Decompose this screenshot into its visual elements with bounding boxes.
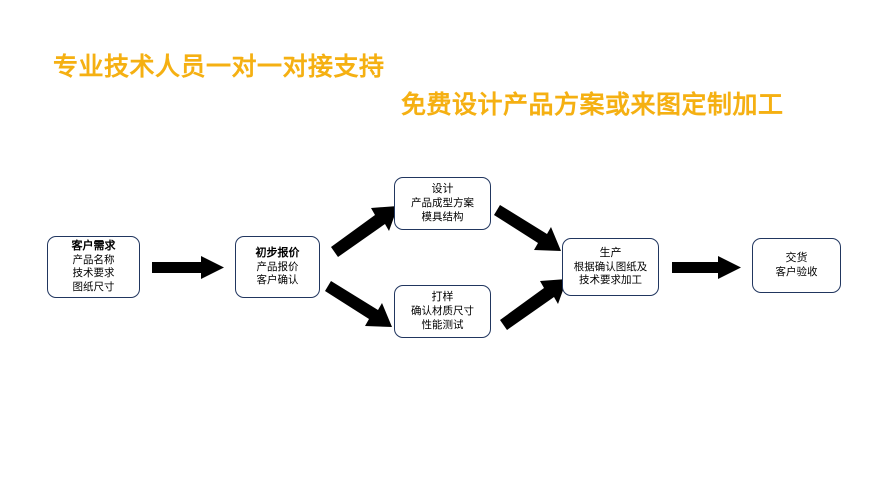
arrow-design-to-production <box>494 205 561 251</box>
flow-node-quote-title: 初步报价 <box>256 246 300 261</box>
flow-node-design-title: 设计 <box>432 182 454 197</box>
flow-node-demand[interactable]: 客户需求 产品名称 技术要求 图纸尺寸 <box>47 236 140 298</box>
flow-node-design-line-2: 模具结构 <box>422 211 464 225</box>
flow-node-demand-title: 客户需求 <box>72 239 116 254</box>
flow-node-production[interactable]: 生产 根据确认图纸及 技术要求加工 <box>562 238 659 296</box>
flow-node-design-line-1: 产品成型方案 <box>411 197 474 211</box>
flow-node-demand-line-3: 图纸尺寸 <box>73 281 115 295</box>
arrow-production-to-delivery <box>672 256 741 279</box>
flow-node-demand-line-2: 技术要求 <box>73 267 115 281</box>
heading-line-2: 免费设计产品方案或来图定制加工 <box>401 92 784 120</box>
flow-node-sample-title: 打样 <box>432 290 454 305</box>
arrow-demand-to-quote <box>152 256 224 279</box>
flow-node-delivery-title: 交货 <box>786 251 808 266</box>
flow-node-sample[interactable]: 打样 确认材质尺寸 性能测试 <box>394 285 491 338</box>
slide-canvas: 专业技术人员一对一对接支持 免费设计产品方案或来图定制加工 客户需求 产品名称 <box>0 0 892 499</box>
flow-node-production-line-1: 根据确认图纸及 <box>574 261 648 275</box>
arrow-quote-to-design <box>331 206 398 257</box>
flow-node-quote-line-2: 客户确认 <box>257 274 299 288</box>
flow-node-quote[interactable]: 初步报价 产品报价 客户确认 <box>235 236 320 298</box>
flow-node-design[interactable]: 设计 产品成型方案 模具结构 <box>394 177 491 230</box>
flow-node-production-line-2: 技术要求加工 <box>579 274 642 288</box>
flow-node-delivery-line-1: 客户验收 <box>776 266 818 280</box>
arrow-quote-to-sample <box>325 281 392 327</box>
flow-node-production-title: 生产 <box>600 246 622 261</box>
flow-node-demand-line-1: 产品名称 <box>73 254 115 268</box>
flow-node-delivery[interactable]: 交货 客户验收 <box>752 238 841 293</box>
flow-node-quote-line-1: 产品报价 <box>257 261 299 275</box>
arrow-sample-to-production <box>500 279 567 330</box>
flow-node-sample-line-2: 性能测试 <box>422 319 464 333</box>
heading-line-1: 专业技术人员一对一对接支持 <box>53 54 385 82</box>
flow-node-sample-line-1: 确认材质尺寸 <box>411 305 474 319</box>
